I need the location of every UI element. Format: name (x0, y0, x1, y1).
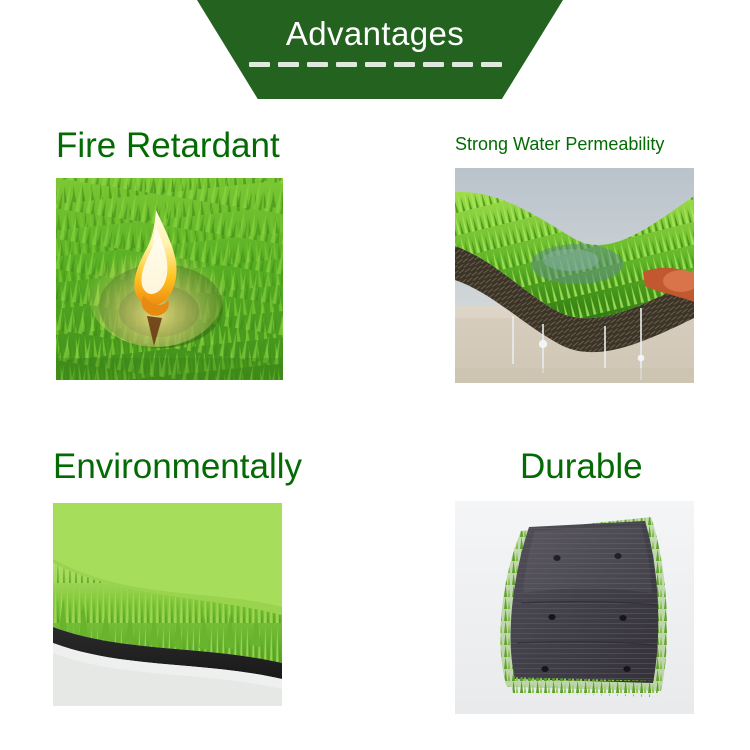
page-title: Advantages (0, 14, 750, 54)
divider-dash (394, 62, 415, 67)
advantage-image-durable (455, 501, 694, 714)
advantage-card-environmentally: Environmentally (53, 447, 302, 706)
advantage-image-water-permeability (455, 168, 694, 383)
advantage-label-fire-retardant: Fire Retardant (56, 126, 283, 166)
advantage-card-durable: Durable (520, 447, 694, 714)
advantage-label-durable: Durable (520, 447, 694, 487)
advantage-image-fire-retardant (56, 178, 283, 380)
divider-dash (249, 62, 270, 67)
divider-dash (278, 62, 299, 67)
header-dashed-divider (0, 62, 750, 67)
divider-dash (423, 62, 444, 67)
divider-dash (365, 62, 386, 67)
advantage-label-environmentally: Environmentally (53, 447, 302, 487)
divider-dash (452, 62, 473, 67)
advantage-card-water-permeability: Strong Water Permeability (455, 133, 694, 383)
header-banner-area: Advantages (0, 0, 750, 100)
divider-dash (307, 62, 328, 67)
divider-dash (336, 62, 357, 67)
divider-dash (481, 62, 502, 67)
advantage-image-environmentally (53, 503, 282, 706)
advantage-card-fire-retardant: Fire Retardant (56, 126, 283, 380)
advantage-label-water-permeability: Strong Water Permeability (455, 133, 694, 155)
